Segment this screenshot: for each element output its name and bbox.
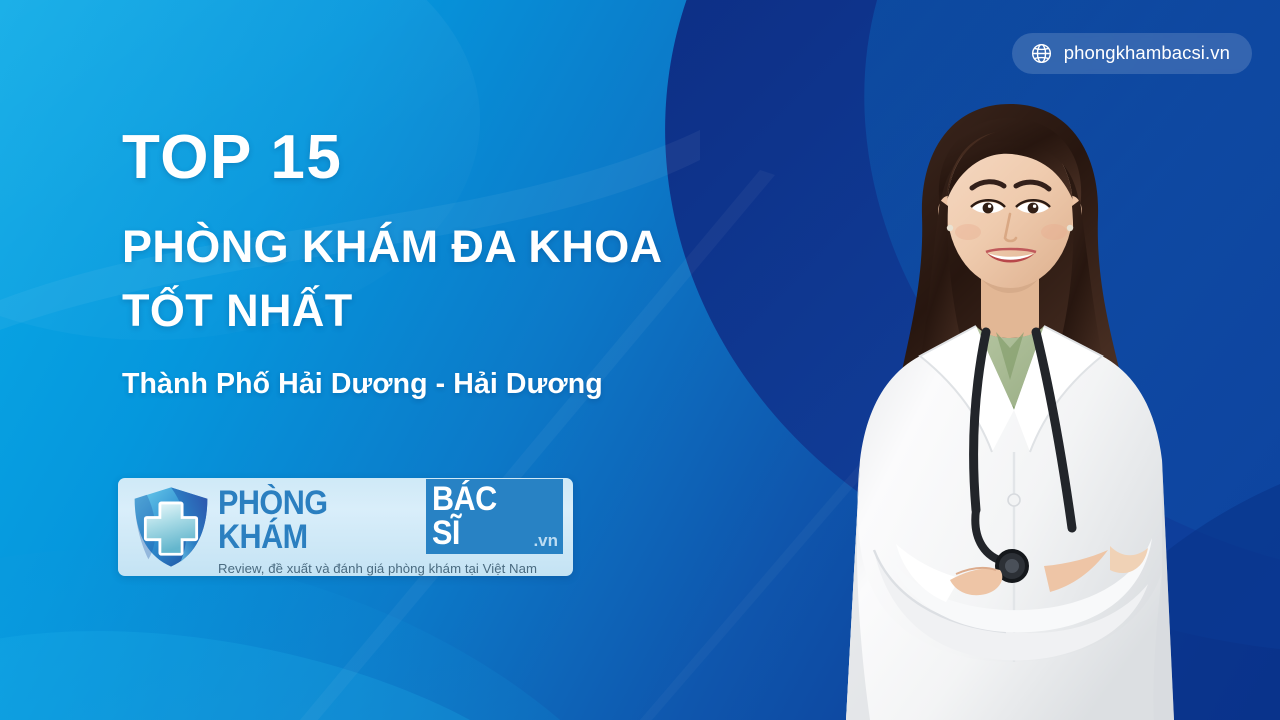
wordmark-highlight: BÁC SĨ [432,482,520,550]
website-badge[interactable]: phongkhambacsi.vn [1012,33,1252,74]
headline-line-1: PHÒNG KHÁM ĐA KHOA [122,215,842,279]
brand-logo[interactable]: PHÒNG KHÁM BÁC SĨ .vn Review, đề xuất và… [118,478,573,576]
headline-block: TOP 15 PHÒNG KHÁM ĐA KHOA TỐT NHẤT Thành… [122,127,842,401]
promo-banner: phongkhambacsi.vn TOP 15 PHÒNG KHÁM ĐA K… [0,0,1280,720]
wordmark-primary: PHÒNG KHÁM [218,486,405,554]
headline-line-2: TỐT NHẤT [122,279,842,343]
doctor-portrait-image [800,80,1220,720]
website-url-label: phongkhambacsi.vn [1064,44,1230,63]
location-subtitle: Thành Phố Hải Dương - Hải Dương [122,367,842,401]
brand-tagline: Review, đề xuất và đánh giá phòng khám t… [218,561,563,576]
brand-wordmark: PHÒNG KHÁM BÁC SĨ .vn [218,479,563,554]
wordmark-tld: .vn [533,532,558,550]
rank-title: TOP 15 [122,127,842,189]
medical-shield-icon [130,485,212,569]
globe-icon [1030,42,1053,65]
brand-text-block: PHÒNG KHÁM BÁC SĨ .vn Review, đề xuất và… [212,479,563,576]
wordmark-highlight-box: BÁC SĨ .vn [426,479,563,554]
